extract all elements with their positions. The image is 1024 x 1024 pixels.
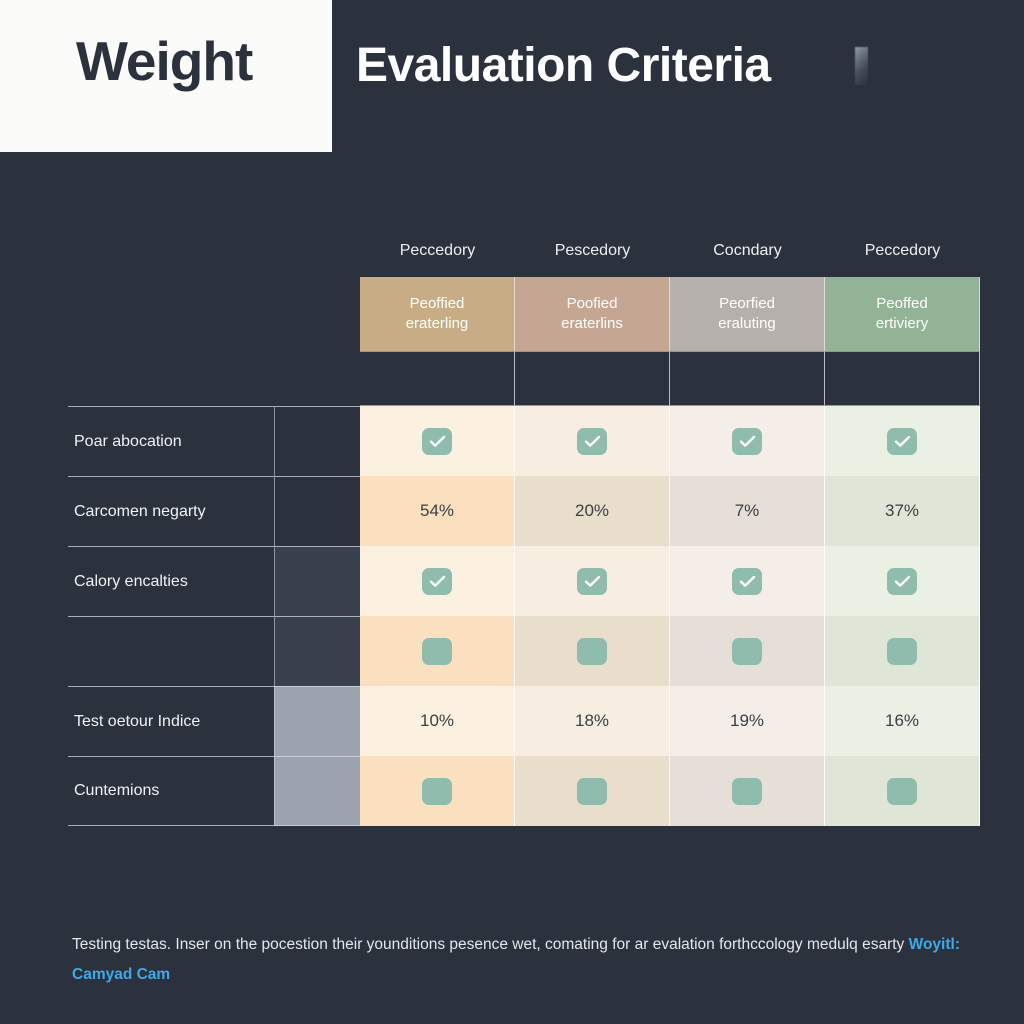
check-icon[interactable] xyxy=(887,428,917,455)
cell-check xyxy=(825,546,980,616)
cell-check xyxy=(670,406,825,476)
row-weight-swatch xyxy=(274,686,360,756)
spacer-cell-3 xyxy=(670,351,825,406)
cell-value: 10% xyxy=(360,686,515,756)
table-body: Poar abocationCarcomen negarty54%20%7%37… xyxy=(68,406,980,826)
column-band-line1: Peorfied xyxy=(719,294,775,314)
badge-icon[interactable] xyxy=(887,778,917,805)
check-icon[interactable] xyxy=(732,568,762,595)
table-column-header-row: PeccedoryPescedoryCocndaryPeccedory xyxy=(68,225,980,277)
header-spacer-narrow xyxy=(274,225,360,277)
cell-badge xyxy=(825,616,980,686)
check-icon[interactable] xyxy=(732,428,762,455)
table-row[interactable]: Poar abocation xyxy=(68,406,980,476)
spacer-cell-1 xyxy=(360,351,515,406)
spacer-label-cell xyxy=(68,351,274,406)
weight-plate: Weight xyxy=(0,0,332,152)
band-spacer-narrow xyxy=(274,277,360,351)
badge-icon[interactable] xyxy=(577,638,607,665)
badge-icon[interactable] xyxy=(577,778,607,805)
spacer-narrow-cell xyxy=(274,351,360,406)
column-header-4: Peccedory xyxy=(825,225,980,277)
table-row[interactable]: Calory encalties xyxy=(68,546,980,616)
cell-value: 20% xyxy=(515,476,670,546)
table-row[interactable]: Carcomen negarty54%20%7%37% xyxy=(68,476,980,546)
footer-note: Testing testas. Inser on the pocestion t… xyxy=(72,930,962,990)
cell-badge xyxy=(360,616,515,686)
column-header-2: Pescedory xyxy=(515,225,670,277)
table-row[interactable]: Test oetour Indice10%18%19%16% xyxy=(68,686,980,756)
badge-icon[interactable] xyxy=(732,638,762,665)
cell-badge xyxy=(515,756,670,826)
badge-icon[interactable] xyxy=(732,778,762,805)
row-label: Calory encalties xyxy=(68,546,274,616)
spacer-cell-4 xyxy=(825,351,980,406)
row-label xyxy=(68,616,274,686)
column-band-3: Peorfiederaluting xyxy=(670,277,825,351)
band-spacer-label xyxy=(68,277,274,351)
cell-value: 18% xyxy=(515,686,670,756)
evaluation-criteria-table: PeccedoryPescedoryCocndaryPeccedory Peof… xyxy=(68,225,980,830)
check-icon[interactable] xyxy=(887,568,917,595)
check-icon[interactable] xyxy=(422,428,452,455)
cell-value: 19% xyxy=(670,686,825,756)
column-band-line2: eraterling xyxy=(406,314,469,334)
cell-badge xyxy=(515,616,670,686)
cell-badge xyxy=(825,756,980,826)
cell-value: 7% xyxy=(670,476,825,546)
cell-check xyxy=(515,406,670,476)
badge-icon[interactable] xyxy=(422,638,452,665)
cell-check xyxy=(360,406,515,476)
column-band-line1: Peoffied xyxy=(410,294,465,314)
check-icon[interactable] xyxy=(577,568,607,595)
row-weight-swatch xyxy=(274,476,360,546)
column-band-line2: eraluting xyxy=(718,314,776,334)
column-band-line1: Peoffed xyxy=(876,294,927,314)
row-label: Cuntemions xyxy=(68,756,274,826)
page-header: Weight Evaluation Criteria xyxy=(0,0,1024,152)
badge-icon[interactable] xyxy=(422,778,452,805)
cell-value: 37% xyxy=(825,476,980,546)
cell-check xyxy=(670,546,825,616)
page-title: Evaluation Criteria xyxy=(356,38,771,93)
footer-text: Testing testas. Inser on the pocestion t… xyxy=(72,936,909,953)
badge-icon[interactable] xyxy=(887,638,917,665)
column-band-1: Peoffiederaterling xyxy=(360,277,515,351)
column-band-line2: ertiviery xyxy=(876,314,929,334)
column-band-2: Poofiederaterlins xyxy=(515,277,670,351)
row-weight-swatch xyxy=(274,616,360,686)
column-header-1: Peccedory xyxy=(360,225,515,277)
cell-badge xyxy=(360,756,515,826)
column-header-3: Cocndary xyxy=(670,225,825,277)
row-label: Test oetour Indice xyxy=(68,686,274,756)
spacer-cell-2 xyxy=(515,351,670,406)
cursor-icon xyxy=(855,47,868,85)
cell-badge xyxy=(670,756,825,826)
cell-check xyxy=(825,406,980,476)
column-band-line1: Poofied xyxy=(567,294,618,314)
header-spacer-label xyxy=(68,225,274,277)
row-weight-swatch xyxy=(274,546,360,616)
cell-badge xyxy=(670,616,825,686)
weight-label: Weight xyxy=(76,34,332,89)
row-label: Carcomen negarty xyxy=(68,476,274,546)
row-label: Poar abocation xyxy=(68,406,274,476)
table-band-row: PeoffiederaterlingPoofiederaterlinsPeorf… xyxy=(68,277,980,351)
row-weight-swatch xyxy=(274,756,360,826)
cell-check xyxy=(515,546,670,616)
cell-value: 16% xyxy=(825,686,980,756)
row-weight-swatch xyxy=(274,406,360,476)
column-band-4: Peoffedertiviery xyxy=(825,277,980,351)
check-icon[interactable] xyxy=(422,568,452,595)
check-icon[interactable] xyxy=(577,428,607,455)
table-row[interactable] xyxy=(68,616,980,686)
column-band-line2: eraterlins xyxy=(561,314,623,334)
table-spacer-row xyxy=(68,351,980,406)
table-row[interactable]: Cuntemions xyxy=(68,756,980,826)
cell-check xyxy=(360,546,515,616)
cell-value: 54% xyxy=(360,476,515,546)
